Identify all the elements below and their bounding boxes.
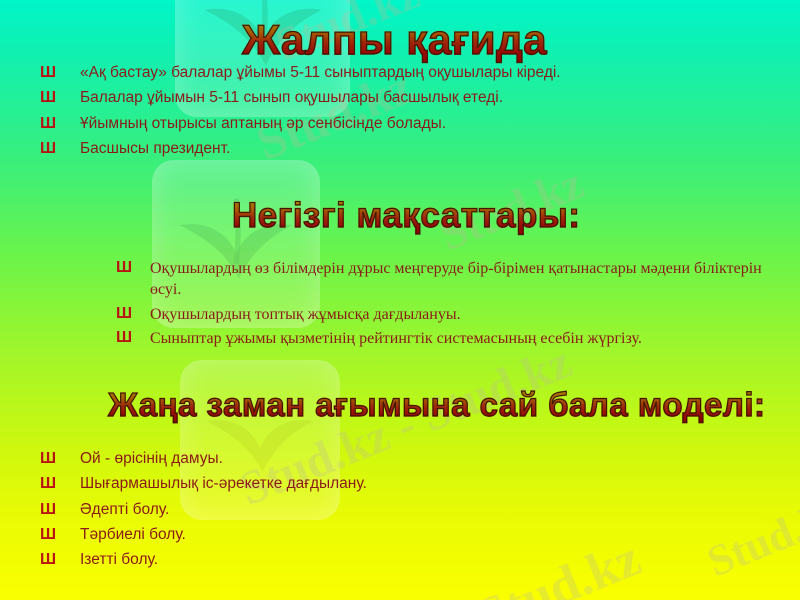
bullet-marker: Ш xyxy=(40,526,80,544)
list-child-model: Ш Ой - өрісінің дамуы. Ш Шығармашылық іс… xyxy=(40,450,770,576)
list-item: Ш Тәрбиелі болу. xyxy=(40,526,770,544)
list-item: Ш Басшысы президент. xyxy=(40,140,770,158)
list-item-label: «Ақ бастау» балалар ұйымы 5-11 сыныптард… xyxy=(80,64,561,82)
bullet-marker: Ш xyxy=(40,115,80,133)
bullet-marker: Ш xyxy=(40,450,80,468)
bullet-marker: Ш xyxy=(40,475,80,493)
list-item: Ш Әдепті болу. xyxy=(40,501,770,519)
heading-main-goals: Негізгі мақсаттары: xyxy=(232,196,580,236)
list-item-label: Ұйымның отырысы аптаның әр сенбісінде бо… xyxy=(80,115,446,133)
bullet-marker: Ш xyxy=(116,259,150,277)
list-item-label: Тәрбиелі болу. xyxy=(80,526,186,544)
bullet-marker: Ш xyxy=(116,305,150,323)
list-item-label: Шығармашылық іс-әрекетке дағдылану. xyxy=(80,475,367,493)
bullet-marker: Ш xyxy=(116,329,150,347)
heading-modern-child-model: Жаңа заман ағымына сай бала моделі: xyxy=(108,386,766,424)
list-item-label: Ізетті болу. xyxy=(80,551,158,569)
list-item: Ш Ой - өрісінің дамуы. xyxy=(40,450,770,468)
list-general-rules: Ш «Ақ бастау» балалар ұйымы 5-11 сыныпта… xyxy=(40,64,770,165)
bullet-marker: Ш xyxy=(40,501,80,519)
list-item-label: Оқушылардың топтық жұмысқа дағдылануы. xyxy=(150,305,461,326)
list-item-label: Сыныптар ұжымы қызметінің рейтингтік сис… xyxy=(150,329,642,350)
slide-canvas: Stud.kz Stud.kz Stud.kz Stud.kz - Stud.k… xyxy=(0,0,800,600)
list-item: Ш Оқушылардың топтық жұмысқа дағдылануы. xyxy=(116,305,792,326)
list-item-label: Басшысы президент. xyxy=(80,140,230,158)
list-item: Ш Сыныптар ұжымы қызметінің рейтингтік с… xyxy=(116,329,792,350)
heading-general-rules: Жалпы қағида xyxy=(242,16,547,64)
list-item: Ш «Ақ бастау» балалар ұйымы 5-11 сыныпта… xyxy=(40,64,770,82)
bullet-marker: Ш xyxy=(40,551,80,569)
list-item-label: Оқушылардың өз білімдерін дұрыс меңгеруд… xyxy=(150,259,792,301)
bullet-marker: Ш xyxy=(40,140,80,158)
list-main-goals: Ш Оқушылардың өз білімдерін дұрыс меңгер… xyxy=(116,259,792,354)
list-item: Ш Оқушылардың өз білімдерін дұрыс меңгер… xyxy=(116,259,792,301)
list-item-label: Балалар ұйымын 5-11 сынып оқушылары басш… xyxy=(80,89,503,107)
list-item-label: Әдепті болу. xyxy=(80,501,169,519)
list-item: Ш Ұйымның отырысы аптаның әр сенбісінде … xyxy=(40,115,770,133)
list-item: Ш Шығармашылық іс-әрекетке дағдылану. xyxy=(40,475,770,493)
bullet-marker: Ш xyxy=(40,64,80,82)
list-item-label: Ой - өрісінің дамуы. xyxy=(80,450,223,468)
bullet-marker: Ш xyxy=(40,89,80,107)
list-item: Ш Балалар ұйымын 5-11 сынып оқушылары ба… xyxy=(40,89,770,107)
list-item: Ш Ізетті болу. xyxy=(40,551,770,569)
